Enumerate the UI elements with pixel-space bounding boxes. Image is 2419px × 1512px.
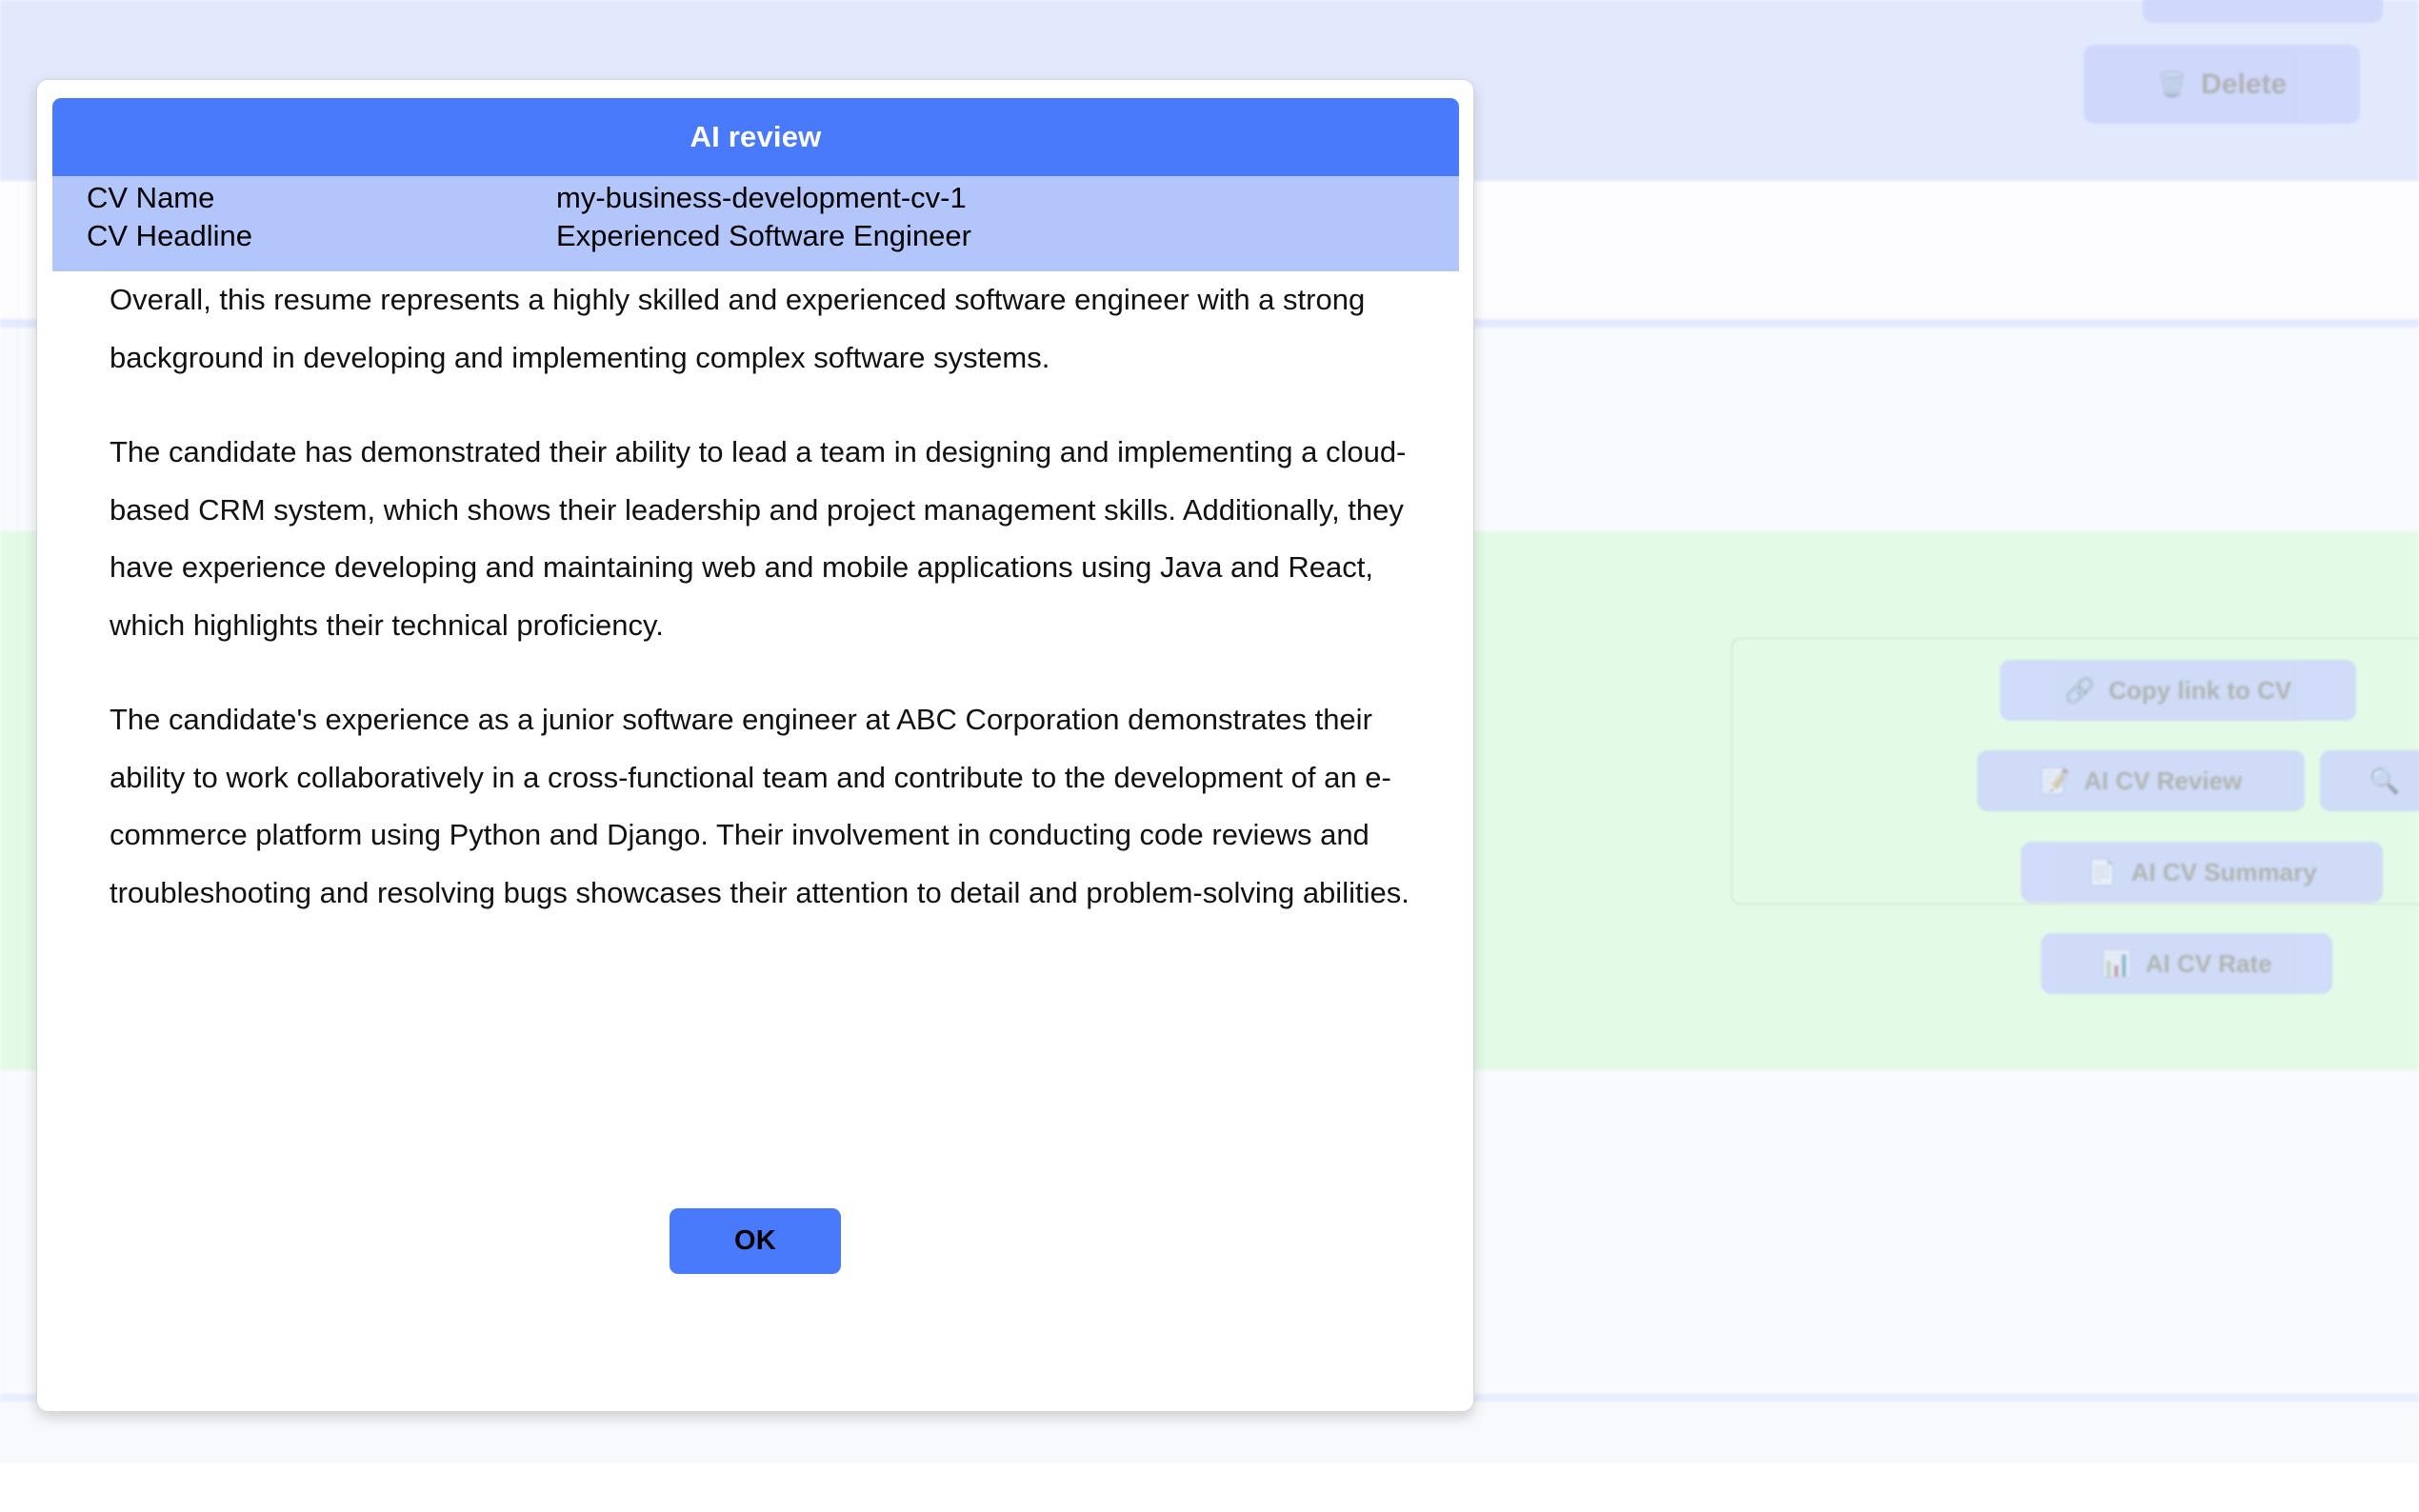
cv-name-value: my-business-development-cv-1 bbox=[556, 181, 967, 215]
ok-button[interactable]: OK bbox=[670, 1208, 841, 1274]
cv-name-label: CV Name bbox=[87, 181, 214, 215]
review-paragraph-3: The candidate's experience as a junior s… bbox=[37, 691, 1473, 922]
dialog-header: AI review bbox=[52, 98, 1459, 176]
magnifier-icon: 🔍 bbox=[2369, 766, 2400, 796]
document-icon: 📄 bbox=[2087, 858, 2117, 887]
ai-cv-summary-button[interactable]: 📄 AI CV Summary bbox=[2021, 842, 2383, 903]
bar-chart-icon: 📊 bbox=[2101, 949, 2131, 979]
ai-cv-review-label: AI CV Review bbox=[2084, 766, 2242, 796]
review-paragraph-2: The candidate has demonstrated their abi… bbox=[37, 424, 1473, 654]
delete-button[interactable]: 🗑️ Delete bbox=[2084, 45, 2360, 124]
ai-cv-summary-label: AI CV Summary bbox=[2131, 858, 2317, 887]
ai-cv-rate-label: AI CV Rate bbox=[2146, 949, 2272, 979]
ai-cv-rate-button[interactable]: 📊 AI CV Rate bbox=[2041, 933, 2332, 994]
partial-button-above-delete[interactable] bbox=[2143, 0, 2383, 23]
search-button[interactable]: 🔍 bbox=[2320, 750, 2419, 811]
delete-button-label: Delete bbox=[2201, 69, 2287, 101]
metadata-row-cv-headline: CV Headline Experienced Software Enginee… bbox=[52, 212, 1459, 260]
review-paragraph-1: Overall, this resume represents a highly… bbox=[37, 271, 1473, 387]
cv-headline-label: CV Headline bbox=[87, 219, 252, 253]
cv-headline-value: Experienced Software Engineer bbox=[556, 219, 971, 253]
link-icon: 🔗 bbox=[2065, 676, 2095, 706]
dialog-footer: OK bbox=[37, 1208, 1473, 1274]
cv-metadata-band: CV Name my-business-development-cv-1 CV … bbox=[52, 176, 1459, 271]
ai-review-dialog: AI review CV Name my-business-developmen… bbox=[36, 79, 1474, 1412]
dialog-title: AI review bbox=[690, 120, 822, 154]
ai-cv-review-button[interactable]: 📝 AI CV Review bbox=[1977, 750, 2305, 811]
trash-icon: 🗑️ bbox=[2157, 70, 2188, 99]
review-text-body: Overall, this resume represents a highly… bbox=[37, 271, 1473, 922]
notepad-icon: 📝 bbox=[2040, 766, 2070, 796]
page-bottom-band bbox=[0, 1463, 2419, 1512]
copy-link-to-cv-label: Copy link to CV bbox=[2109, 676, 2291, 706]
sidebar-edge bbox=[17, 181, 18, 1071]
copy-link-to-cv-button[interactable]: 🔗 Copy link to CV bbox=[2000, 660, 2356, 721]
